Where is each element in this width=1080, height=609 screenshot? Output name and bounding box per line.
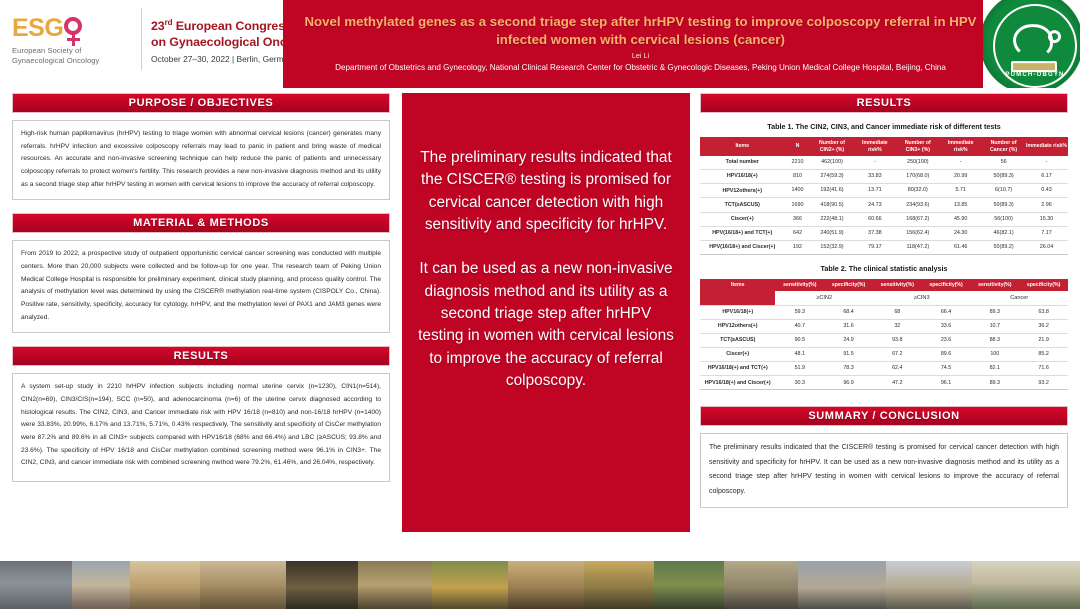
summary-conclusion-text: The preliminary results indicated that t…	[700, 433, 1068, 507]
footer-photo-strip	[0, 561, 1080, 609]
section-header-purpose: PURPOSE / OBJECTIVES	[12, 93, 390, 113]
table2-r3-c3: 67.2	[873, 348, 922, 362]
table2-r0-c1: 59.3	[775, 305, 824, 319]
table1-r3-c3: 24.73	[853, 198, 896, 212]
table2-col-3: sensitivity(%)	[873, 279, 922, 292]
table1-r3-c7: 2.96	[1025, 198, 1068, 212]
table2-col-1: sensitivity(%)	[775, 279, 824, 292]
table1-r3-c6: 50(89.3)	[982, 198, 1025, 212]
footer-photo	[358, 561, 432, 609]
table1-r6-c0: HPV(16/18+) and Ciscer(+)	[700, 240, 785, 254]
table2-r4-c3: 62.4	[873, 362, 922, 376]
footer-photo	[286, 561, 358, 609]
table-row: TCT(≥ASCUS) 90.5 24.9 93.8 23.6 88.3 21.…	[700, 333, 1068, 347]
footer-photo	[508, 561, 584, 609]
table2-r2-c4: 23.6	[922, 333, 971, 347]
table1-r4-c2: 222(48.1)	[811, 212, 854, 226]
table1-r1-c6: 50(89.3)	[982, 170, 1025, 184]
table2-r1-c5: 10.7	[970, 319, 1019, 333]
table1-r0-c2: 462(100)	[811, 156, 854, 170]
table2-r4-c4: 74.5	[922, 362, 971, 376]
table2-group-cancer: Cancer	[970, 291, 1068, 305]
table2-r1-c1: 40.7	[775, 319, 824, 333]
table2-r1-c3: 32	[873, 319, 922, 333]
table1-r1-c7: 6.17	[1025, 170, 1068, 184]
table1-r4-c6: 56(100)	[982, 212, 1025, 226]
footer-photo	[584, 561, 654, 609]
table1-r5-c1: 642	[785, 226, 811, 240]
table1-r4-c4: 168(67.2)	[896, 212, 939, 226]
table-row: TCT(≥ASCUS) 1690 418(90.5) 24.73 234(93.…	[700, 198, 1068, 212]
table1-r5-c4: 156(62.4)	[896, 226, 939, 240]
table1-r2-c3: 13.71	[853, 184, 896, 198]
table2-r3-c2: 91.5	[824, 348, 873, 362]
table-1-immediate-risk: Items N Number of CIN2+ (%) Immediate ri…	[700, 137, 1068, 255]
table-row: HPV(16/18+) and Ciscer(+) 192 152(32.9) …	[700, 240, 1068, 254]
poster-header: ESG European Society of Gynaecological O…	[0, 0, 1080, 88]
table1-caption: Table 1. The CIN2, CIN3, and Cancer imme…	[700, 122, 1068, 131]
table1-r1-c4: 170(68.0)	[896, 170, 939, 184]
section-header-materials: MATERIAL & METHODS	[12, 213, 390, 233]
table-row: Total number 2210 462(100) - 250(100) - …	[700, 156, 1068, 170]
table1-r1-c0: HPV16/18(+)	[700, 170, 785, 184]
table1-col-3: Immediate risk%	[853, 137, 896, 156]
table1-r5-c0: HPV(16/18+) and TCT(+)	[700, 226, 785, 240]
table2-r2-c0: TCT(≥ASCUS)	[700, 333, 775, 347]
table2-r5-c4: 96.1	[922, 376, 971, 390]
table2-r0-c2: 68.4	[824, 305, 873, 319]
table2-caption: Table 2. The clinical statistic analysis	[700, 264, 1068, 273]
table1-r5-c2: 240(51.9)	[811, 226, 854, 240]
page-title: Novel methylated genes as a second triag…	[297, 13, 984, 47]
table1-col-7: Immediate risk%	[1025, 137, 1068, 156]
table2-group-cin3: ≥CIN3	[873, 291, 971, 305]
section-header-results-right: RESULTS	[700, 93, 1068, 113]
footer-photo	[200, 561, 286, 609]
footer-photo	[798, 561, 886, 609]
table1-col-4: Number of CIN3+ (%)	[896, 137, 939, 156]
table1-r0-c7: -	[1025, 156, 1068, 170]
esgo-subtitle-line2: Gynaecological Oncology	[12, 56, 132, 66]
table1-r2-c7: 0.43	[1025, 184, 1068, 198]
table2-r4-c5: 82.1	[970, 362, 1019, 376]
table1-r2-c1: 1400	[785, 184, 811, 198]
column-right: RESULTS Table 1. The CIN2, CIN3, and Can…	[692, 88, 1080, 561]
table-row: HPV(16/18+) and TCT(+) 642 240(51.9) 37.…	[700, 226, 1068, 240]
table-group-row: ≥CIN2 ≥CIN3 Cancer	[700, 291, 1068, 305]
table1-r6-c5: 61.46	[939, 240, 982, 254]
pumch-logo-text: PUMCH-OBGYN	[995, 72, 1075, 78]
table-row: HPV12others(+) 1400 192(41.6) 13.71 80(3…	[700, 184, 1068, 198]
table1-r6-c1: 192	[785, 240, 811, 254]
table2-r5-c0: HPV16/18(+) and Ciscer(+)	[700, 376, 775, 390]
table2-r0-c3: 68	[873, 305, 922, 319]
table1-r3-c4: 234(93.6)	[896, 198, 939, 212]
table2-r1-c6: 36.2	[1019, 319, 1068, 333]
table1-r4-c0: Ciscer(+)	[700, 212, 785, 226]
footer-photo	[72, 561, 130, 609]
poster-body: PURPOSE / OBJECTIVES High-risk human pap…	[0, 88, 1080, 561]
key-message-paragraph-2: It can be used as a new non-invasive dia…	[416, 258, 676, 392]
venus-symbol-icon	[64, 17, 86, 39]
table2-r1-c4: 33.6	[922, 319, 971, 333]
footer-photo	[130, 561, 200, 609]
table1-r2-c2: 192(41.6)	[811, 184, 854, 198]
footer-photo	[724, 561, 798, 609]
table1-r2-c5: 5.71	[939, 184, 982, 198]
table2-r3-c6: 85.2	[1019, 348, 1068, 362]
table2-r3-c1: 48.1	[775, 348, 824, 362]
table1-r0-c5: -	[939, 156, 982, 170]
table1-col-1: N	[785, 137, 811, 156]
poster-root: ESG European Society of Gynaecological O…	[0, 0, 1080, 609]
esgo-logo: ESG European Society of Gynaecological O…	[12, 16, 132, 66]
table2-col-4: specificity(%)	[922, 279, 971, 292]
table2-r0-c4: 66.4	[922, 305, 971, 319]
table2-r5-c5: 89.3	[970, 376, 1019, 390]
footer-photo	[654, 561, 724, 609]
footer-photo	[432, 561, 508, 609]
table2-col-0: Items	[700, 279, 775, 292]
table2-r1-c2: 31.6	[824, 319, 873, 333]
table2-col-6: specificity(%)	[1019, 279, 1068, 292]
table2-r2-c2: 24.9	[824, 333, 873, 347]
esgo-wordmark: ESG	[12, 16, 132, 41]
footer-photo	[886, 561, 972, 609]
column-left: PURPOSE / OBJECTIVES High-risk human pap…	[0, 88, 400, 561]
purpose-text: High-risk human papillomavirus (hrHPV) t…	[12, 120, 390, 200]
table2-r5-c3: 47.2	[873, 376, 922, 390]
table2-r4-c1: 51.9	[775, 362, 824, 376]
table-row: HPV16/18(+) 810 274(59.3) 33.83 170(68.0…	[700, 170, 1068, 184]
table2-r4-c0: HPV16/18(+) and TCT(+)	[700, 362, 775, 376]
table1-r2-c0: HPV12others(+)	[700, 184, 785, 198]
table1-r0-c4: 250(100)	[896, 156, 939, 170]
footer-photo	[0, 561, 72, 609]
section-header-summary: SUMMARY / CONCLUSION	[700, 406, 1068, 426]
table2-r1-c0: HPV12others(+)	[700, 319, 775, 333]
pumch-obgyn-logo-icon: PUMCH-OBGYN	[983, 0, 1080, 92]
table1-r0-c0: Total number	[700, 156, 785, 170]
table-row: HPV16/18(+) 59.3 68.4 68 66.4 89.3 63.8	[700, 305, 1068, 319]
table1-r1-c2: 274(59.3)	[811, 170, 854, 184]
table1-r0-c6: 56	[982, 156, 1025, 170]
header-divider	[141, 8, 142, 70]
table1-r5-c5: 24.30	[939, 226, 982, 240]
table1-r6-c4: 118(47.2)	[896, 240, 939, 254]
table-row: HPV12others(+) 40.7 31.6 32 33.6 10.7 36…	[700, 319, 1068, 333]
table1-col-6: Number of Cancer (%)	[982, 137, 1025, 156]
table1-r1-c5: 20.99	[939, 170, 982, 184]
table2-r5-c6: 93.2	[1019, 376, 1068, 390]
table1-r1-c1: 810	[785, 170, 811, 184]
table1-r3-c0: TCT(≥ASCUS)	[700, 198, 785, 212]
table2-r3-c5: 100	[970, 348, 1019, 362]
table-row: Ciscer(+) 48.1 91.5 67.2 89.6 100 85.2	[700, 348, 1068, 362]
author-affiliation: Department of Obstetrics and Gynecology,…	[335, 63, 946, 74]
key-message-paragraph-1: The preliminary results indicated that t…	[416, 147, 676, 236]
table1-r4-c5: 45.90	[939, 212, 982, 226]
column-center: The preliminary results indicated that t…	[400, 88, 692, 561]
table1-r5-c3: 37.38	[853, 226, 896, 240]
table1-r3-c1: 1690	[785, 198, 811, 212]
header-title-banner: Novel methylated genes as a second triag…	[283, 0, 1080, 88]
table2-r3-c0: Ciscer(+)	[700, 348, 775, 362]
table1-r6-c2: 152(32.9)	[811, 240, 854, 254]
table1-r0-c1: 2210	[785, 156, 811, 170]
table1-col-0: Items	[700, 137, 785, 156]
table2-group-cin2: ≥CIN2	[775, 291, 873, 305]
table1-r6-c3: 79.17	[853, 240, 896, 254]
table2-r0-c6: 63.8	[1019, 305, 1068, 319]
table2-r5-c2: 96.9	[824, 376, 873, 390]
table2-r3-c4: 89.6	[922, 348, 971, 362]
table2-r0-c0: HPV16/18(+)	[700, 305, 775, 319]
table1-r5-c7: 7.17	[1025, 226, 1068, 240]
table-row: Ciscer(+) 366 222(48.1) 60.66 168(67.2) …	[700, 212, 1068, 226]
table1-r4-c7: 15.30	[1025, 212, 1068, 226]
table-row: HPV16/18(+) and TCT(+) 51.9 78.3 62.4 74…	[700, 362, 1068, 376]
table1-r0-c3: -	[853, 156, 896, 170]
table1-r2-c4: 80(32.0)	[896, 184, 939, 198]
table2-r5-c1: 30.3	[775, 376, 824, 390]
esgo-subtitle-line1: European Society of	[12, 46, 132, 56]
table-row: HPV16/18(+) and Ciscer(+) 30.3 96.9 47.2…	[700, 376, 1068, 390]
table2-r2-c6: 21.9	[1019, 333, 1068, 347]
table2-group-blank	[700, 291, 775, 305]
table-2-clinical-statistics: Items sensitivity(%) specificity(%) sens…	[700, 279, 1068, 391]
table2-r4-c2: 78.3	[824, 362, 873, 376]
results-text: A system set-up study in 2210 hrHPV infe…	[12, 373, 390, 482]
table1-r5-c6: 46(82.1)	[982, 226, 1025, 240]
table1-r4-c1: 366	[785, 212, 811, 226]
esgo-wordmark-text: ESG	[12, 16, 63, 41]
table1-r3-c5: 13.85	[939, 198, 982, 212]
table2-r0-c5: 89.3	[970, 305, 1019, 319]
table2-r4-c6: 71.6	[1019, 362, 1068, 376]
table1-col-5: Immediate risk%	[939, 137, 982, 156]
table1-r2-c6: 6(10.7)	[982, 184, 1025, 198]
esgo-subtitle: European Society of Gynaecological Oncol…	[12, 46, 132, 66]
table1-r6-c6: 50(89.2)	[982, 240, 1025, 254]
table2-r2-c5: 88.3	[970, 333, 1019, 347]
table-header-row: Items sensitivity(%) specificity(%) sens…	[700, 279, 1068, 292]
table1-r4-c3: 60.66	[853, 212, 896, 226]
table1-r6-c7: 26.04	[1025, 240, 1068, 254]
table2-col-5: sensitivity(%)	[970, 279, 1019, 292]
author-name: Lei Li	[632, 51, 649, 60]
table2-r2-c1: 90.5	[775, 333, 824, 347]
table1-col-2: Number of CIN2+ (%)	[811, 137, 854, 156]
header-branding: ESG European Society of Gynaecological O…	[0, 0, 283, 88]
key-message-panel: The preliminary results indicated that t…	[402, 93, 690, 532]
table1-r3-c2: 418(90.5)	[811, 198, 854, 212]
table2-col-2: specificity(%)	[824, 279, 873, 292]
table2-r2-c3: 93.8	[873, 333, 922, 347]
table1-r1-c3: 33.83	[853, 170, 896, 184]
footer-photo	[972, 561, 1080, 609]
table-header-row: Items N Number of CIN2+ (%) Immediate ri…	[700, 137, 1068, 156]
materials-methods-text: From 2019 to 2022, a prospective study o…	[12, 240, 390, 333]
section-header-results-left: RESULTS	[12, 346, 390, 366]
